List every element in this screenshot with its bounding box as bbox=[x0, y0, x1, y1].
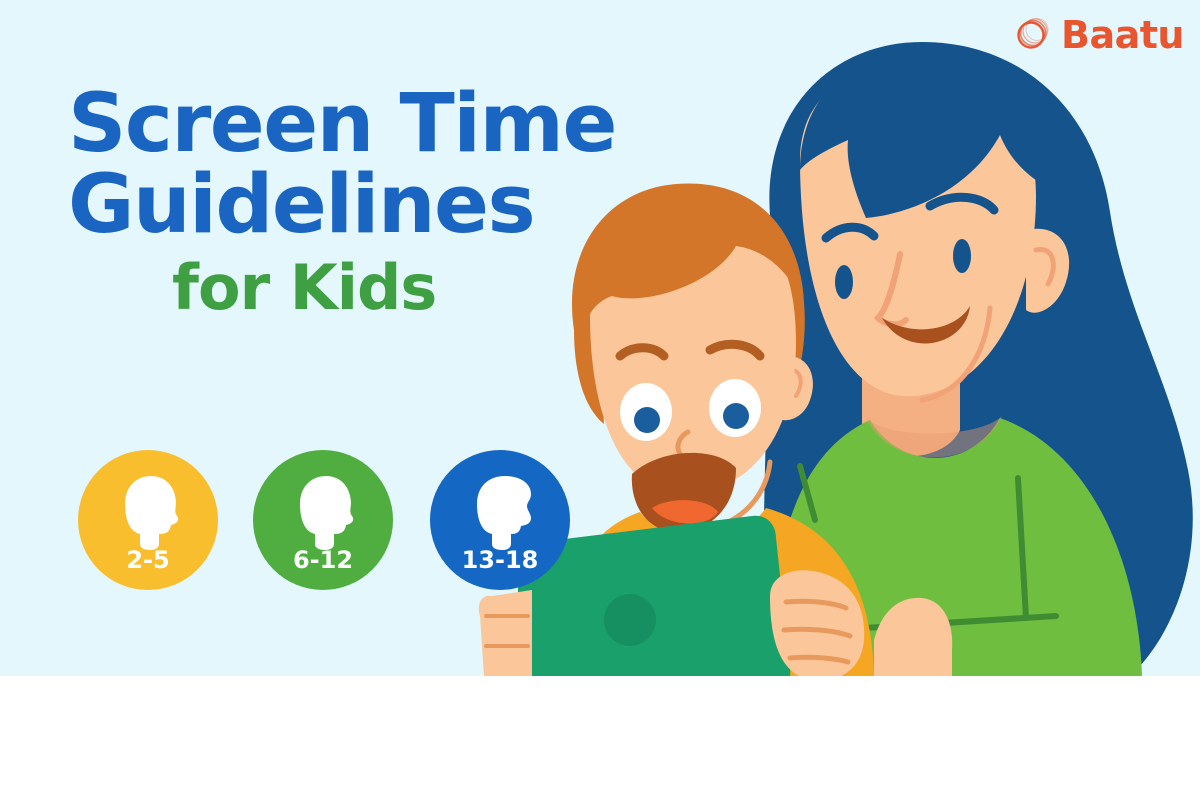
title-line-1: Screen Time bbox=[68, 82, 708, 167]
tablet-camera-icon bbox=[604, 594, 656, 646]
age-badge-label: 2-5 bbox=[78, 546, 218, 574]
age-badge-2-5[interactable]: 2-5 bbox=[78, 450, 218, 590]
age-badge-13-18[interactable]: 13-18 bbox=[430, 450, 570, 590]
brand-name: Baatu bbox=[1061, 16, 1184, 54]
brand-logo[interactable]: Baatu bbox=[1010, 14, 1184, 56]
title-line-2: Guidelines bbox=[68, 163, 708, 248]
title-line-3: for Kids bbox=[172, 254, 708, 322]
child-hand-left bbox=[479, 590, 532, 676]
child-head-silhouette-icon bbox=[286, 474, 360, 550]
poster-canvas: Baatu Screen Time Guidelines for Kids 2-… bbox=[0, 0, 1200, 800]
age-badge-label: 13-18 bbox=[430, 546, 570, 574]
child-eye-right bbox=[709, 379, 761, 437]
mother-eye-left bbox=[835, 265, 853, 299]
page-title: Screen Time Guidelines for Kids bbox=[68, 82, 708, 322]
child-eye-left bbox=[620, 383, 672, 441]
age-badge-6-12[interactable]: 6-12 bbox=[253, 450, 393, 590]
teen-head-silhouette-icon bbox=[463, 474, 537, 550]
child-head-silhouette-icon bbox=[111, 474, 185, 550]
age-badge-label: 6-12 bbox=[253, 546, 393, 574]
mother-eye-right bbox=[953, 239, 971, 273]
concentric-spiral-circles-icon bbox=[1010, 14, 1052, 56]
